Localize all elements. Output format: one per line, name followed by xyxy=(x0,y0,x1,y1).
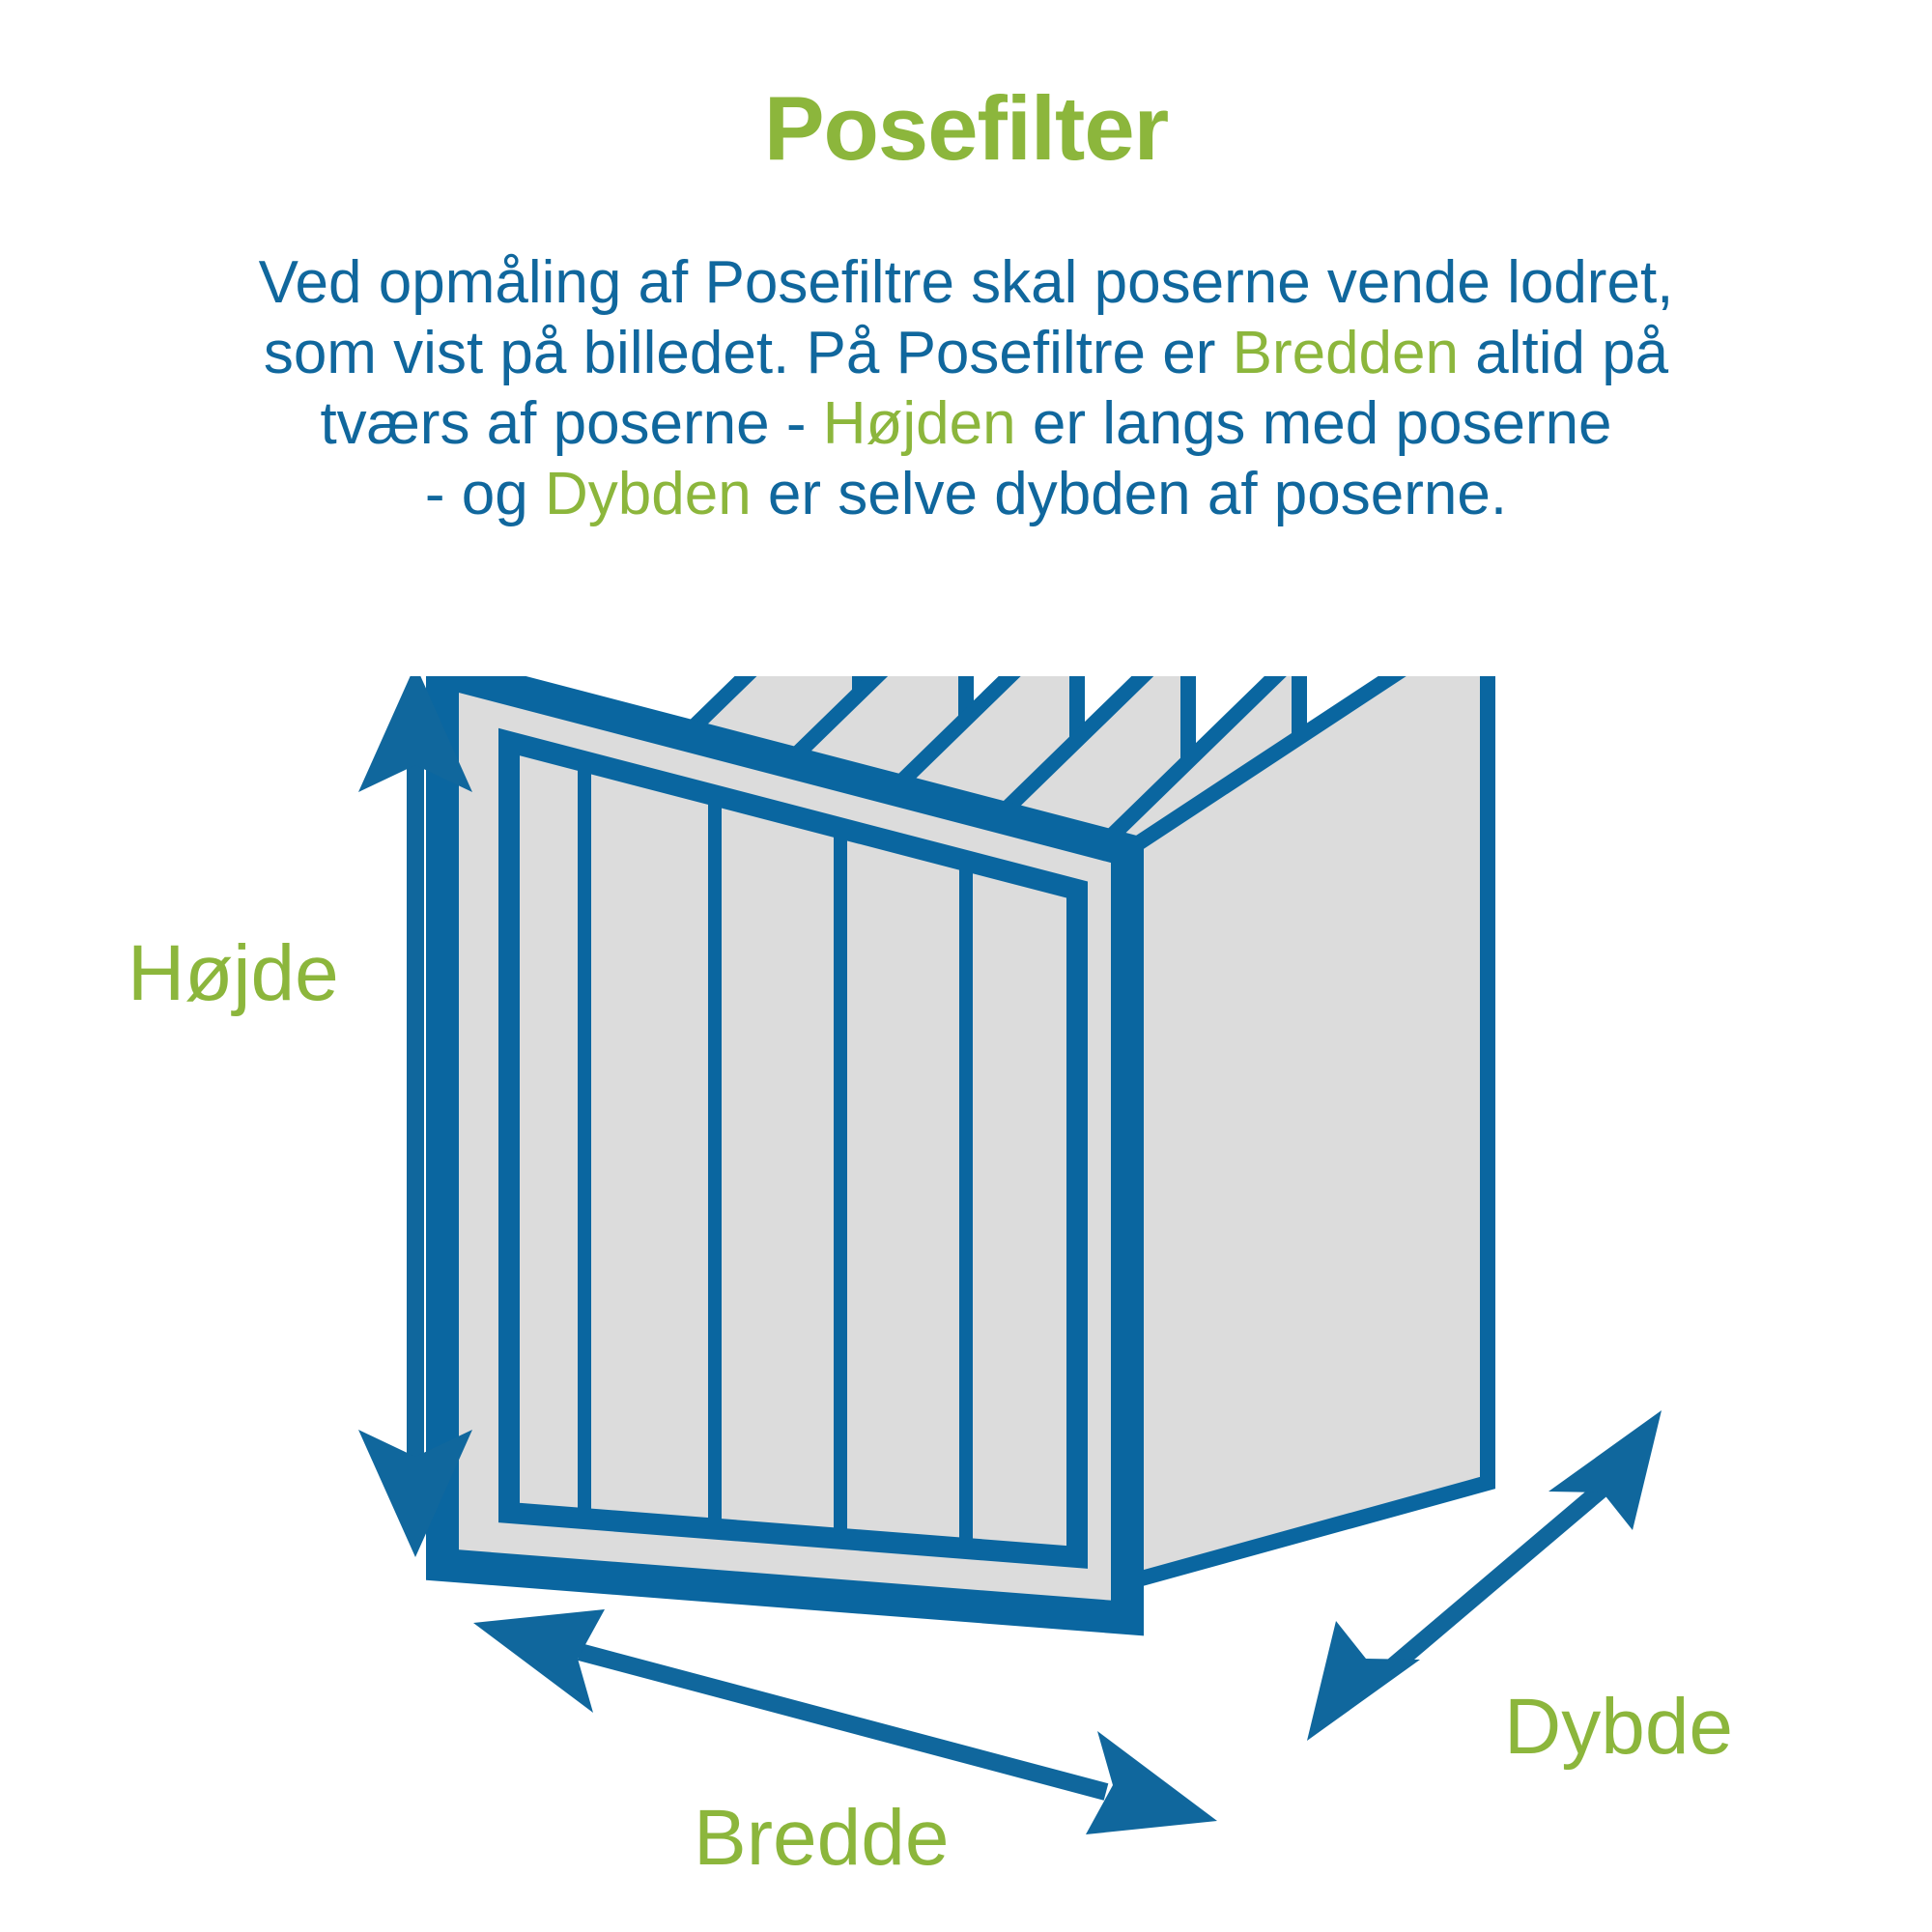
filter-inner-frame xyxy=(509,742,1077,1557)
depth-arrow-head-downleft xyxy=(1307,1621,1420,1741)
poster-page: Posefilter Ved opmåling af Posefiltre sk… xyxy=(0,0,1932,1932)
filter-right-side-panel xyxy=(1121,676,1488,1584)
page-title: Posefilter xyxy=(0,83,1932,174)
filter-diagram: Højde Bredde Dybde xyxy=(0,676,1932,1932)
header: Posefilter Ved opmåling af Posefiltre sk… xyxy=(0,0,1932,530)
bag-filter-svg: Højde Bredde Dybde xyxy=(0,676,1932,1932)
intro-line-3: tværs af poserne - Højden er langs med p… xyxy=(0,388,1932,459)
intro-text-block: Ved opmåling af Posefiltre skal poserne … xyxy=(0,247,1932,530)
highlight-hojden: Højden xyxy=(823,390,1016,457)
intro-line-3-text-a: tværs af poserne - xyxy=(320,390,822,457)
highlight-dybden: Dybden xyxy=(545,461,752,527)
intro-line-4-text-a: - og xyxy=(425,461,545,527)
intro-line-1: Ved opmåling af Posefiltre skal poserne … xyxy=(0,247,1932,318)
width-dimension-label: Bredde xyxy=(694,1794,949,1882)
intro-line-3-text-b: er langs med poserne xyxy=(1016,390,1612,457)
highlight-bredden: Bredden xyxy=(1233,320,1459,386)
height-dimension-label: Højde xyxy=(128,929,339,1017)
intro-line-2: som vist på billedet. På Posefiltre er B… xyxy=(0,318,1932,388)
depth-dimension-label: Dybde xyxy=(1504,1683,1733,1771)
depth-arrow-shaft xyxy=(1381,1488,1604,1676)
intro-line-2-text-b: altid på xyxy=(1459,320,1668,386)
intro-line-4: - og Dybden er selve dybden af poserne. xyxy=(0,459,1932,529)
width-arrow-head-right xyxy=(1086,1731,1217,1834)
intro-line-2-text-a: som vist på billedet. På Posefiltre er xyxy=(264,320,1233,386)
intro-line-1-text: Ved opmåling af Posefiltre skal poserne … xyxy=(259,249,1674,316)
width-arrow-shaft xyxy=(580,1652,1106,1792)
intro-line-4-text-b: er selve dybden af poserne. xyxy=(752,461,1507,527)
